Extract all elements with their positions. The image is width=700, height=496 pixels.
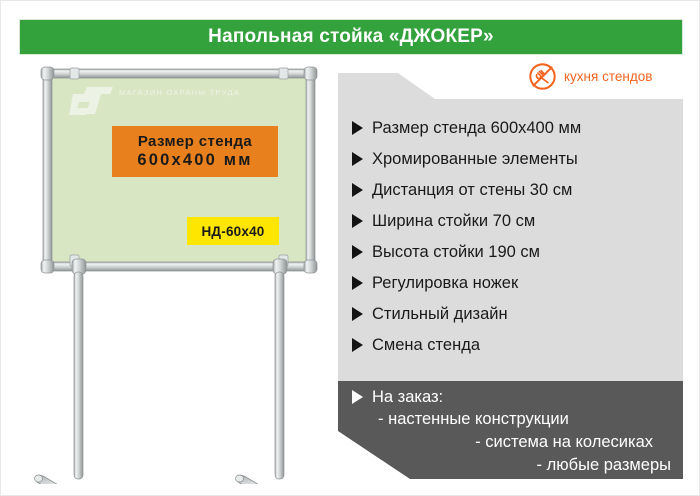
stand-illustration: МАГАЗИН ОХРАНЫ ТРУДА	[21, 59, 341, 484]
feature-item: Регулировка ножек	[352, 274, 683, 299]
feature-label: Стильный дизайн	[372, 306, 508, 323]
custom-order-heading-row: На заказ:	[352, 388, 683, 411]
stand-size-label: Размер стенда 600х400 мм	[112, 126, 278, 177]
triangle-bullet-icon	[352, 121, 363, 135]
svg-text:МАГАЗИН ОХРАНЫ ТРУДА: МАГАЗИН ОХРАНЫ ТРУДА	[119, 88, 240, 97]
stand-code-label-text: НД-60х40	[201, 224, 264, 239]
custom-order-item: - система на колесиках	[352, 434, 683, 457]
feature-label: Ширина стойки 70 см	[372, 213, 535, 230]
feature-label: Дистанция от стены 30 см	[372, 182, 572, 199]
triangle-bullet-icon	[352, 390, 363, 404]
stand-size-label-line2: 600х400 мм	[137, 151, 252, 170]
feature-item: Стильный дизайн	[352, 305, 683, 330]
custom-order-heading: На заказ:	[372, 389, 443, 406]
feature-item: Размер стенда 600х400 мм	[352, 119, 683, 144]
stand-size-label-line1: Размер стенда	[138, 133, 252, 151]
feature-label: Смена стенда	[372, 337, 480, 354]
brand-name: кухня стендов	[564, 69, 652, 84]
header-bar: Напольная стойка «ДЖОКЕР»	[19, 19, 683, 55]
feature-label: Регулировка ножек	[372, 275, 518, 292]
triangle-bullet-icon	[352, 183, 363, 197]
feature-item: Смена стенда	[352, 336, 683, 361]
stand-code-label: НД-60х40	[187, 217, 279, 245]
triangle-bullet-icon	[352, 276, 363, 290]
custom-order-panel: На заказ: - настенные конструкции - сист…	[338, 381, 683, 479]
feature-label: Размер стенда 600х400 мм	[372, 120, 581, 137]
feature-item: Хромированные элементы	[352, 150, 683, 175]
stand-drawing: МАГАЗИН ОХРАНЫ ТРУДА	[21, 59, 341, 484]
feature-label: Хромированные элементы	[372, 151, 578, 168]
feature-item: Ширина стойки 70 см	[352, 212, 683, 237]
custom-order-item: - любые размеры	[352, 457, 683, 480]
triangle-bullet-icon	[352, 245, 363, 259]
crossed-out-fork-icon	[528, 62, 557, 91]
page-title: Напольная стойка «ДЖОКЕР»	[208, 26, 494, 48]
features-panel: Размер стенда 600х400 мм Хромированные э…	[338, 65, 683, 381]
triangle-bullet-icon	[352, 307, 363, 321]
triangle-bullet-icon	[352, 214, 363, 228]
feature-item: Дистанция от стены 30 см	[352, 181, 683, 206]
product-infographic: Напольная стойка «ДЖОКЕР»	[0, 0, 700, 496]
brand-logo: кухня стендов	[528, 62, 652, 91]
triangle-bullet-icon	[352, 152, 363, 166]
triangle-bullet-icon	[352, 338, 363, 352]
feature-item: Высота стойки 190 см	[352, 243, 683, 268]
custom-order-item: - настенные конструкции	[352, 411, 683, 434]
feature-label: Высота стойки 190 см	[372, 244, 540, 261]
